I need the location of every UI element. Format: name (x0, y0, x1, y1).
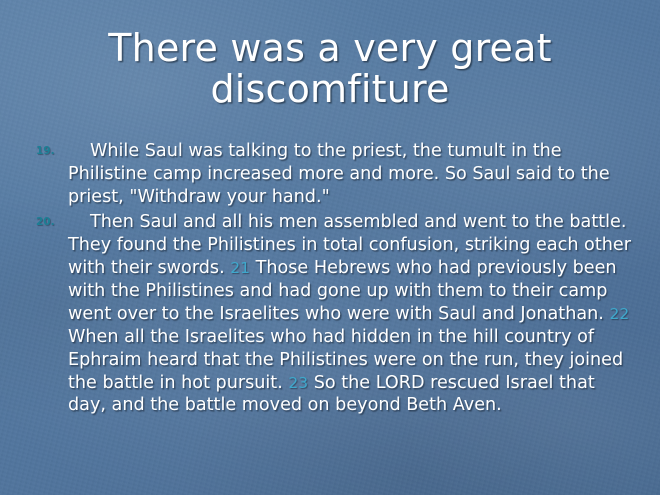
verse-paragraph-list: 19. While Saul was talking to the priest… (30, 140, 638, 417)
inline-verse-number: 23 (288, 374, 308, 392)
slide-body: 19. While Saul was talking to the priest… (30, 140, 638, 419)
verse-marker: 19. (36, 145, 55, 159)
verse-paragraph: 20. Then Saul and all his men assembled … (30, 211, 638, 418)
verse-paragraph: 19. While Saul was talking to the priest… (30, 140, 638, 209)
slide-title-block: There was a very great discomfiture (0, 28, 660, 110)
presentation-slide: There was a very great discomfiture 19. … (0, 0, 660, 495)
verse-text: While Saul was talking to the priest, th… (68, 141, 610, 207)
inline-verse-number: 22 (609, 305, 629, 323)
verse-marker: 20. (36, 216, 55, 230)
page-title: There was a very great discomfiture (46, 28, 614, 110)
inline-verse-number: 21 (230, 259, 250, 277)
